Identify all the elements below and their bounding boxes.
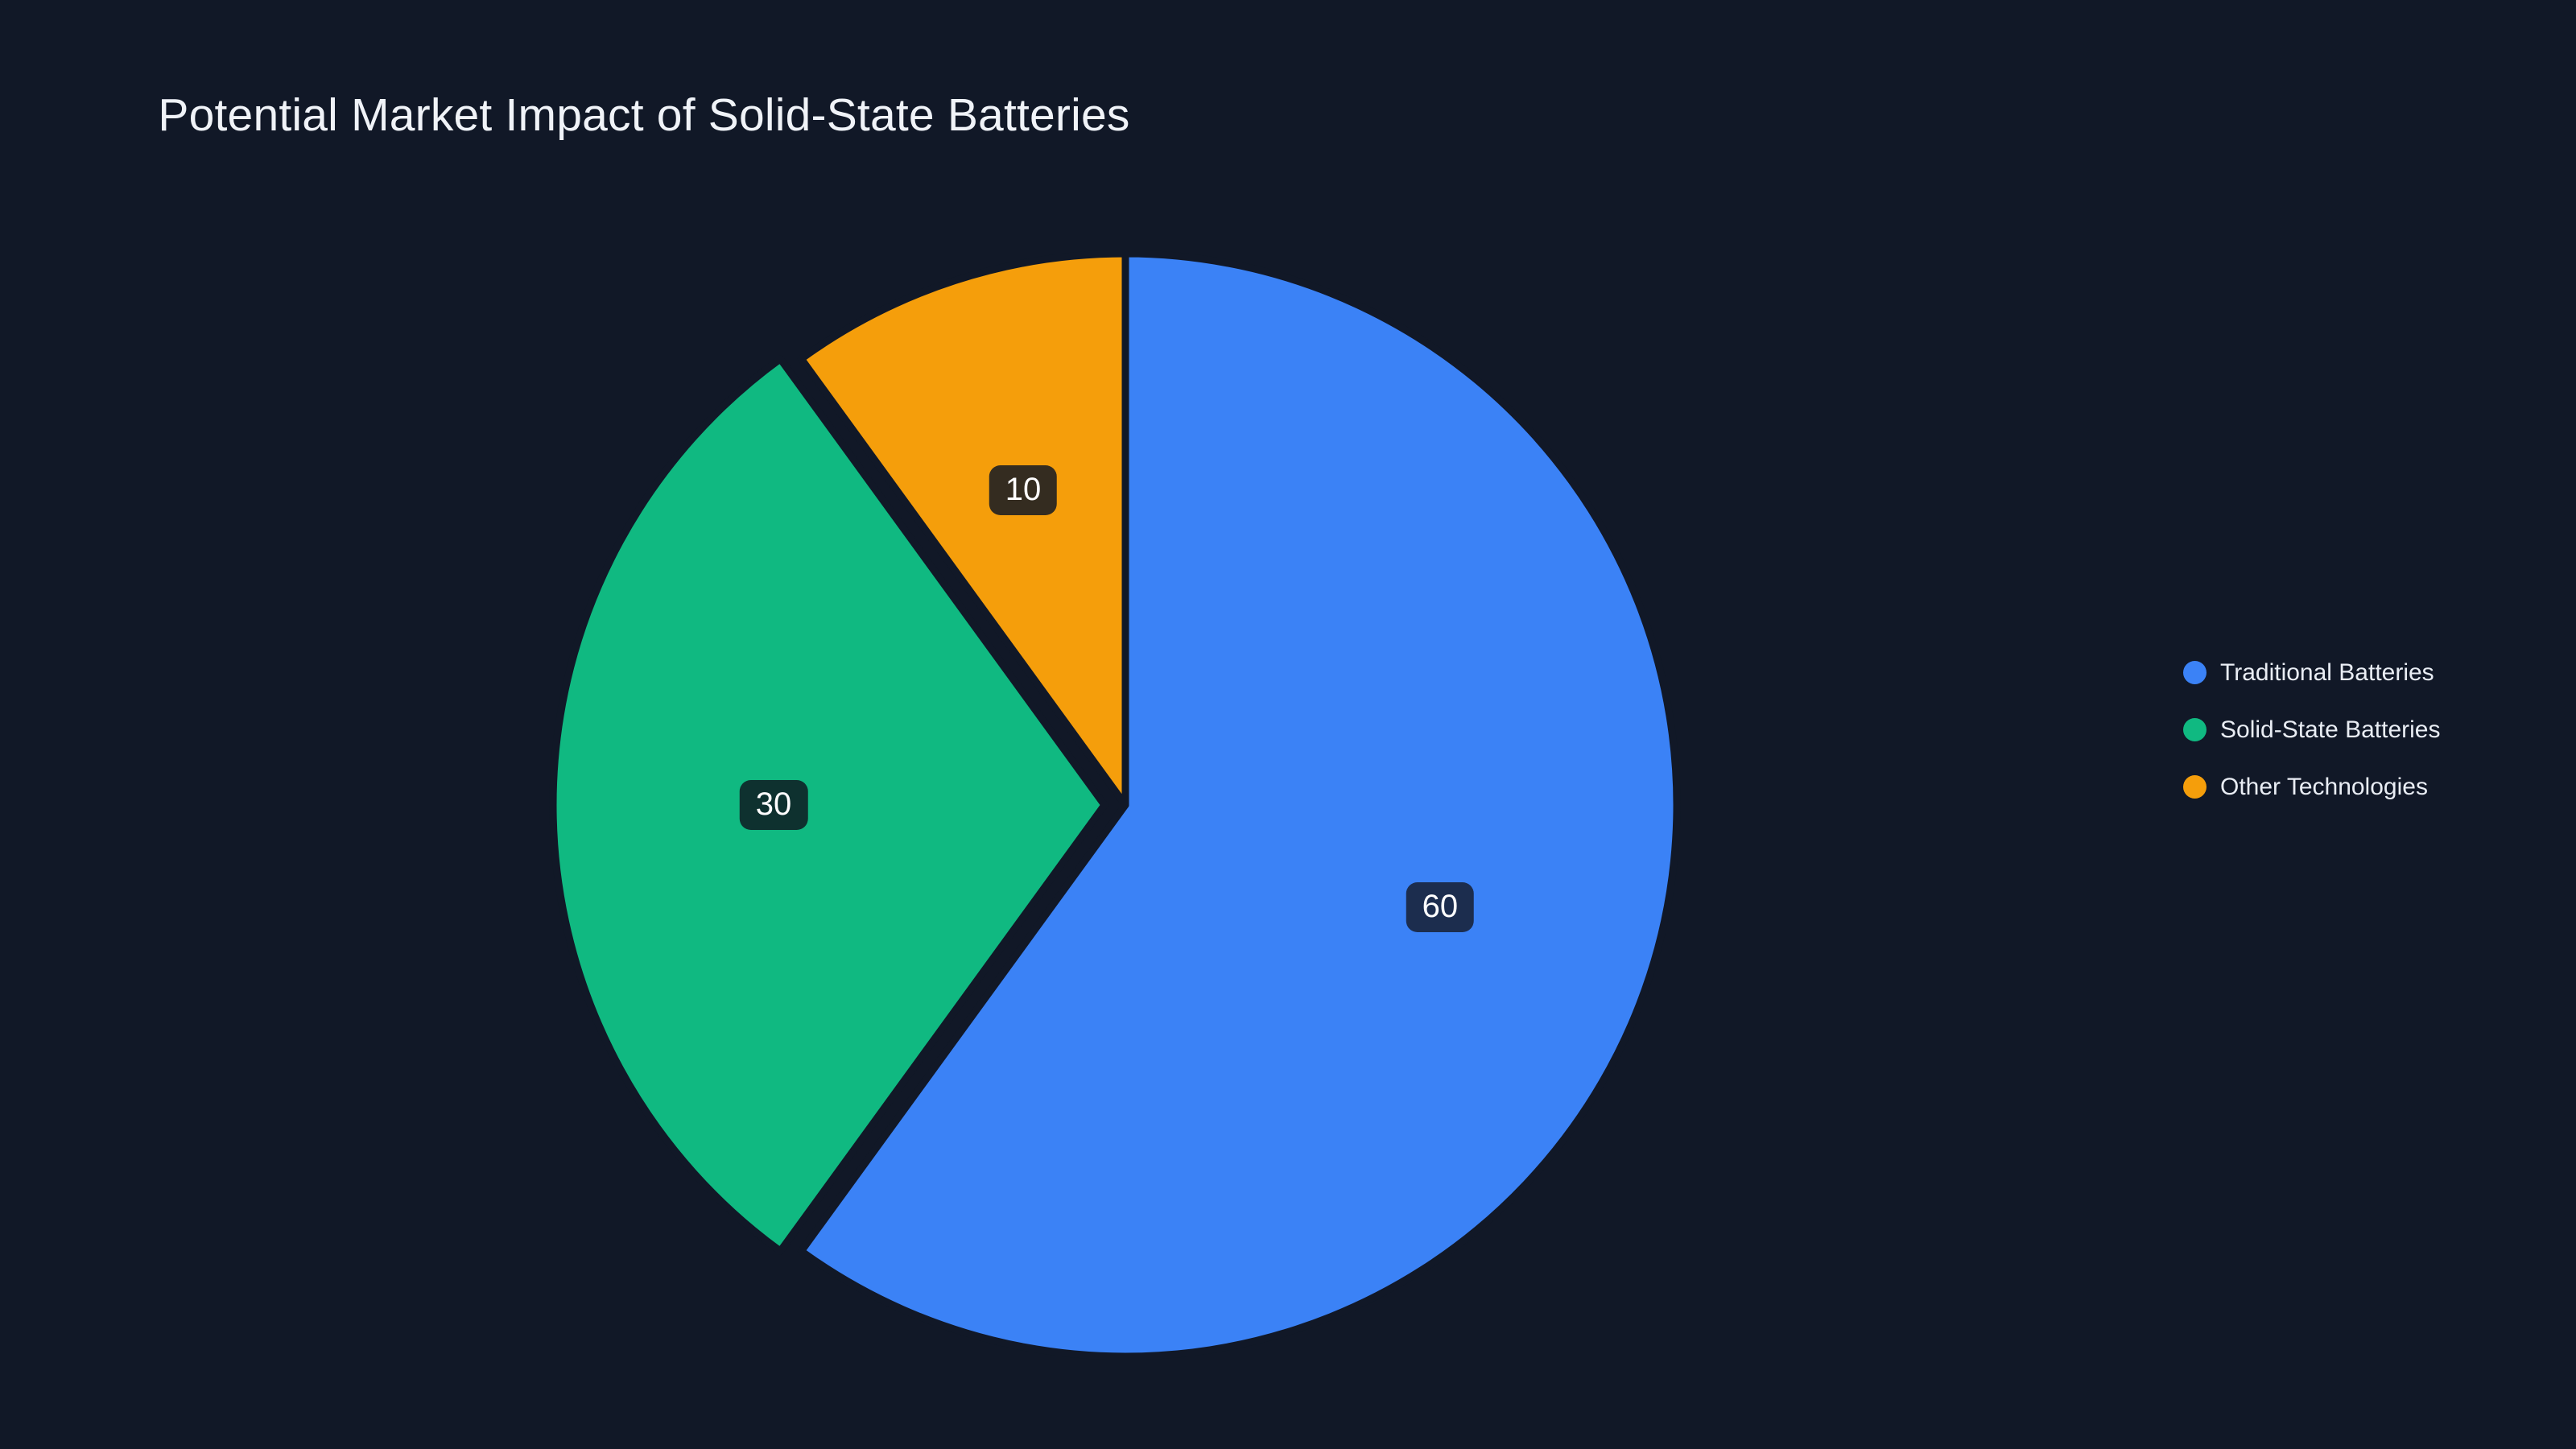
legend-item-label: Traditional Batteries: [2220, 661, 2434, 685]
slice-value-label: 10: [989, 465, 1058, 515]
pie-slice-group: [553, 254, 1677, 1356]
slice-value-label: 60: [1406, 882, 1475, 932]
pie-plot-area: 603010: [0, 0, 2093, 1449]
legend-swatch-icon: [2183, 775, 2207, 799]
legend-swatch-icon: [2183, 718, 2207, 741]
pie-chart-svg: [0, 0, 2093, 1449]
chart-legend: Traditional BatteriesSolid-State Batteri…: [2183, 644, 2440, 815]
chart-canvas: Potential Market Impact of Solid-State B…: [0, 0, 2576, 1449]
legend-item[interactable]: Traditional Batteries: [2183, 644, 2440, 701]
legend-swatch-icon: [2183, 661, 2207, 684]
legend-item[interactable]: Other Technologies: [2183, 758, 2440, 815]
legend-item[interactable]: Solid-State Batteries: [2183, 701, 2440, 758]
slice-value-label: 30: [740, 780, 808, 830]
legend-item-label: Solid-State Batteries: [2220, 718, 2440, 742]
legend-item-label: Other Technologies: [2220, 775, 2428, 799]
